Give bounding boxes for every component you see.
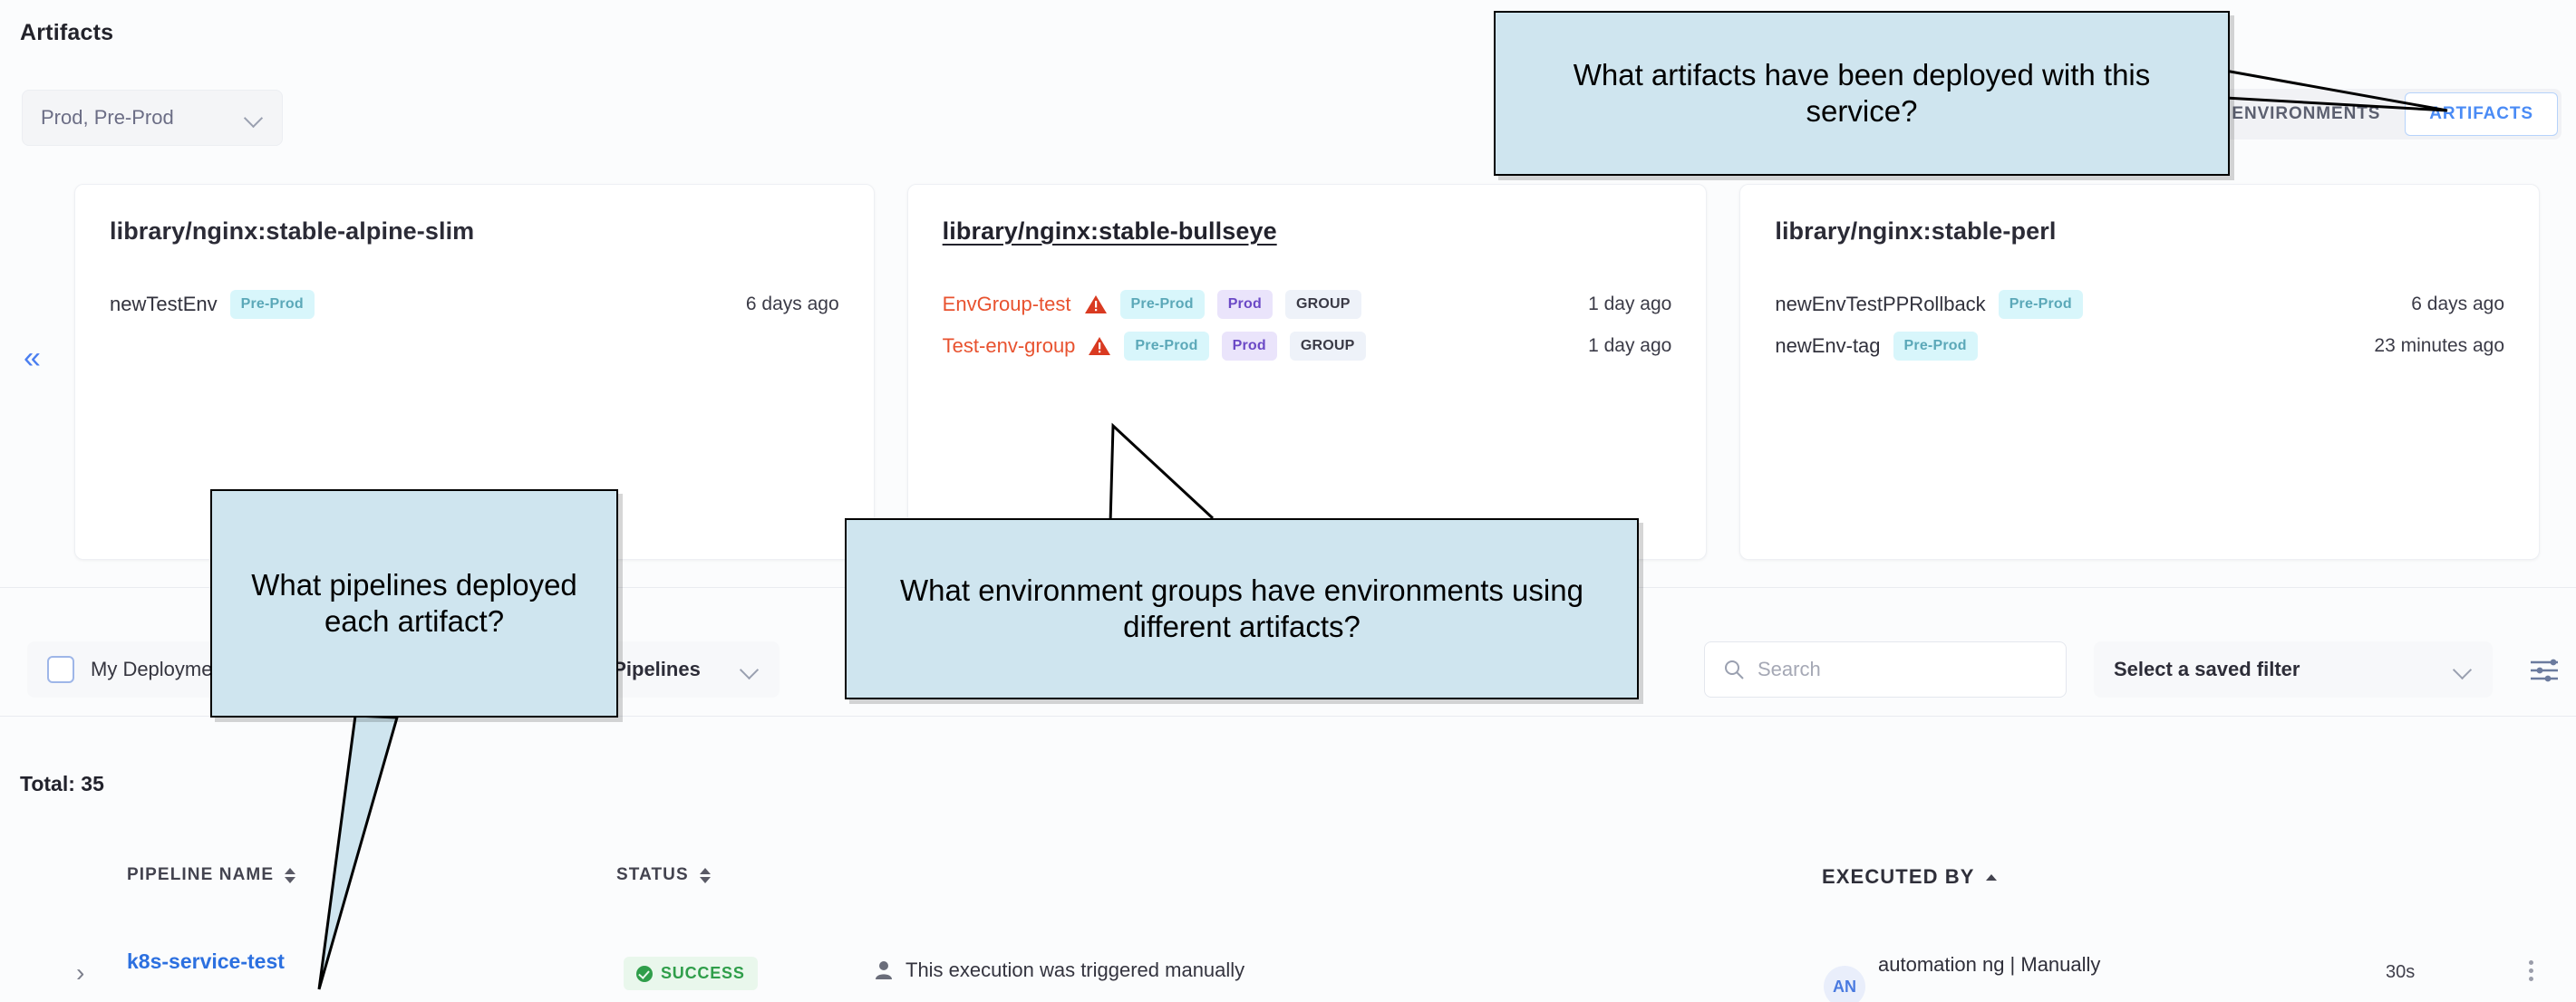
warning-triangle-icon xyxy=(1088,335,1111,357)
artifact-title: library/nginx:stable-alpine-slim xyxy=(110,217,474,246)
pipeline-name-link[interactable]: k8s-service-test xyxy=(127,949,285,974)
environment-row[interactable]: newEnvTestPPRollback Pre-Prod 6 days ago xyxy=(1775,284,2504,325)
tab-environments[interactable]: ENVIRONMENTS xyxy=(2207,92,2405,136)
column-label: STATUS xyxy=(616,865,689,885)
table-row[interactable]: › k8s-service-test SUCCESS This executio… xyxy=(0,942,2576,1002)
my-deployments-checkbox[interactable] xyxy=(47,656,74,683)
saved-filter-select[interactable]: Select a saved filter xyxy=(2094,641,2493,698)
annotation-callout-pipelines: What pipelines deployed each artifact? xyxy=(210,489,618,718)
annotation-text: What environment groups have environment… xyxy=(847,573,1637,646)
page-title: Artifacts xyxy=(20,20,113,46)
trigger-info: This execution was triggered manually xyxy=(875,959,1244,982)
deployed-when: 1 day ago xyxy=(1588,294,1671,315)
tab-artifacts[interactable]: ARTIFACTS xyxy=(2405,92,2558,136)
environment-row[interactable]: EnvGroup-test Pre-Prod Prod GROUP 1 day … xyxy=(943,284,1672,325)
saved-filter-value: Select a saved filter xyxy=(2114,658,2453,681)
column-label: EXECUTED BY xyxy=(1822,865,1975,889)
collapse-panel-button[interactable]: « xyxy=(24,342,41,373)
table-header: PIPELINE NAME STATUS EXECUTED BY xyxy=(0,865,2576,912)
annotation-callout-envgroups: What environment groups have environment… xyxy=(845,518,1639,699)
annotation-text: What pipelines deployed each artifact? xyxy=(212,567,616,641)
avatar: AN xyxy=(1824,966,1865,1002)
deployed-when: 6 days ago xyxy=(2411,294,2504,315)
sort-icon[interactable] xyxy=(700,868,711,883)
environment-name: newTestEnv xyxy=(110,293,218,316)
column-header-executed-by[interactable]: EXECUTED BY xyxy=(1822,865,1997,889)
search-placeholder: Search xyxy=(1758,658,1821,681)
warning-triangle-icon xyxy=(1084,294,1108,315)
user-icon xyxy=(875,960,893,980)
row-expander-icon[interactable]: › xyxy=(76,960,84,986)
annotation-text: What artifacts have been deployed with t… xyxy=(1496,57,2228,130)
env-type-tag: Prod xyxy=(1222,332,1277,361)
sort-ascending-icon[interactable] xyxy=(1986,874,1997,881)
environment-row[interactable]: Test-env-group Pre-Prod Prod GROUP 1 day… xyxy=(943,325,1672,367)
environment-row[interactable]: newEnv-tag Pre-Prod 23 minutes ago xyxy=(1775,325,2504,367)
env-group-tag: GROUP xyxy=(1285,290,1361,319)
duration-text: 30s xyxy=(2386,962,2415,983)
column-header-pipeline-name[interactable]: PIPELINE NAME xyxy=(127,865,295,885)
artifact-card[interactable]: library/nginx:stable-bullseye EnvGroup-t… xyxy=(907,184,1708,560)
artifact-card[interactable]: library/nginx:stable-perl newEnvTestPPRo… xyxy=(1739,184,2540,560)
env-type-tag: Pre-Prod xyxy=(1999,290,2083,319)
environment-name: newEnv-tag xyxy=(1775,334,1880,358)
column-header-status[interactable]: STATUS xyxy=(616,865,711,885)
trigger-text: This execution was triggered manually xyxy=(905,959,1244,982)
env-type-tag: Pre-Prod xyxy=(1120,290,1205,319)
sort-icon[interactable] xyxy=(285,868,295,883)
env-type-tag: Pre-Prod xyxy=(1893,332,1978,361)
sliders-icon[interactable] xyxy=(2529,658,2560,683)
environment-name: Test-env-group xyxy=(943,334,1076,358)
search-input[interactable]: Search xyxy=(1704,641,2067,698)
view-tabs: ENVIRONMENTS ARTIFACTS xyxy=(2203,89,2561,140)
deployed-when: 23 minutes ago xyxy=(2374,335,2504,357)
total-count: Total: 35 xyxy=(20,772,104,796)
chevron-down-icon xyxy=(740,660,760,679)
env-type-tag: Prod xyxy=(1217,290,1273,319)
annotation-callout-artifacts: What artifacts have been deployed with t… xyxy=(1494,11,2230,176)
environment-name: EnvGroup-test xyxy=(943,293,1071,316)
executed-by-text: automation ng | Manually xyxy=(1878,953,2100,977)
deployed-when: 1 day ago xyxy=(1588,335,1671,357)
status-badge: SUCCESS xyxy=(624,957,758,990)
chevron-down-icon xyxy=(2453,660,2473,679)
environment-row[interactable]: newTestEnv Pre-Prod 6 days ago xyxy=(110,284,839,325)
deployed-when: 6 days ago xyxy=(746,294,839,315)
check-circle-icon xyxy=(636,966,653,982)
environment-filter-dropdown[interactable]: Prod, Pre-Prod xyxy=(22,90,283,146)
column-label: PIPELINE NAME xyxy=(127,865,274,885)
artifacts-page: Artifacts Prod, Pre-Prod ENVIRONMENTS AR… xyxy=(0,0,2576,1002)
chevron-down-icon xyxy=(244,108,264,128)
status-label: SUCCESS xyxy=(661,964,745,983)
row-menu-icon[interactable] xyxy=(2529,960,2533,981)
env-group-tag: GROUP xyxy=(1290,332,1366,361)
artifact-title-link[interactable]: library/nginx:stable-bullseye xyxy=(943,217,1277,246)
env-type-tag: Pre-Prod xyxy=(230,290,315,319)
env-type-tag: Pre-Prod xyxy=(1124,332,1208,361)
artifact-title: library/nginx:stable-perl xyxy=(1775,217,2056,246)
environment-name: newEnvTestPPRollback xyxy=(1775,293,1985,316)
environment-filter-value: Prod, Pre-Prod xyxy=(41,106,244,130)
search-icon xyxy=(1723,659,1745,680)
